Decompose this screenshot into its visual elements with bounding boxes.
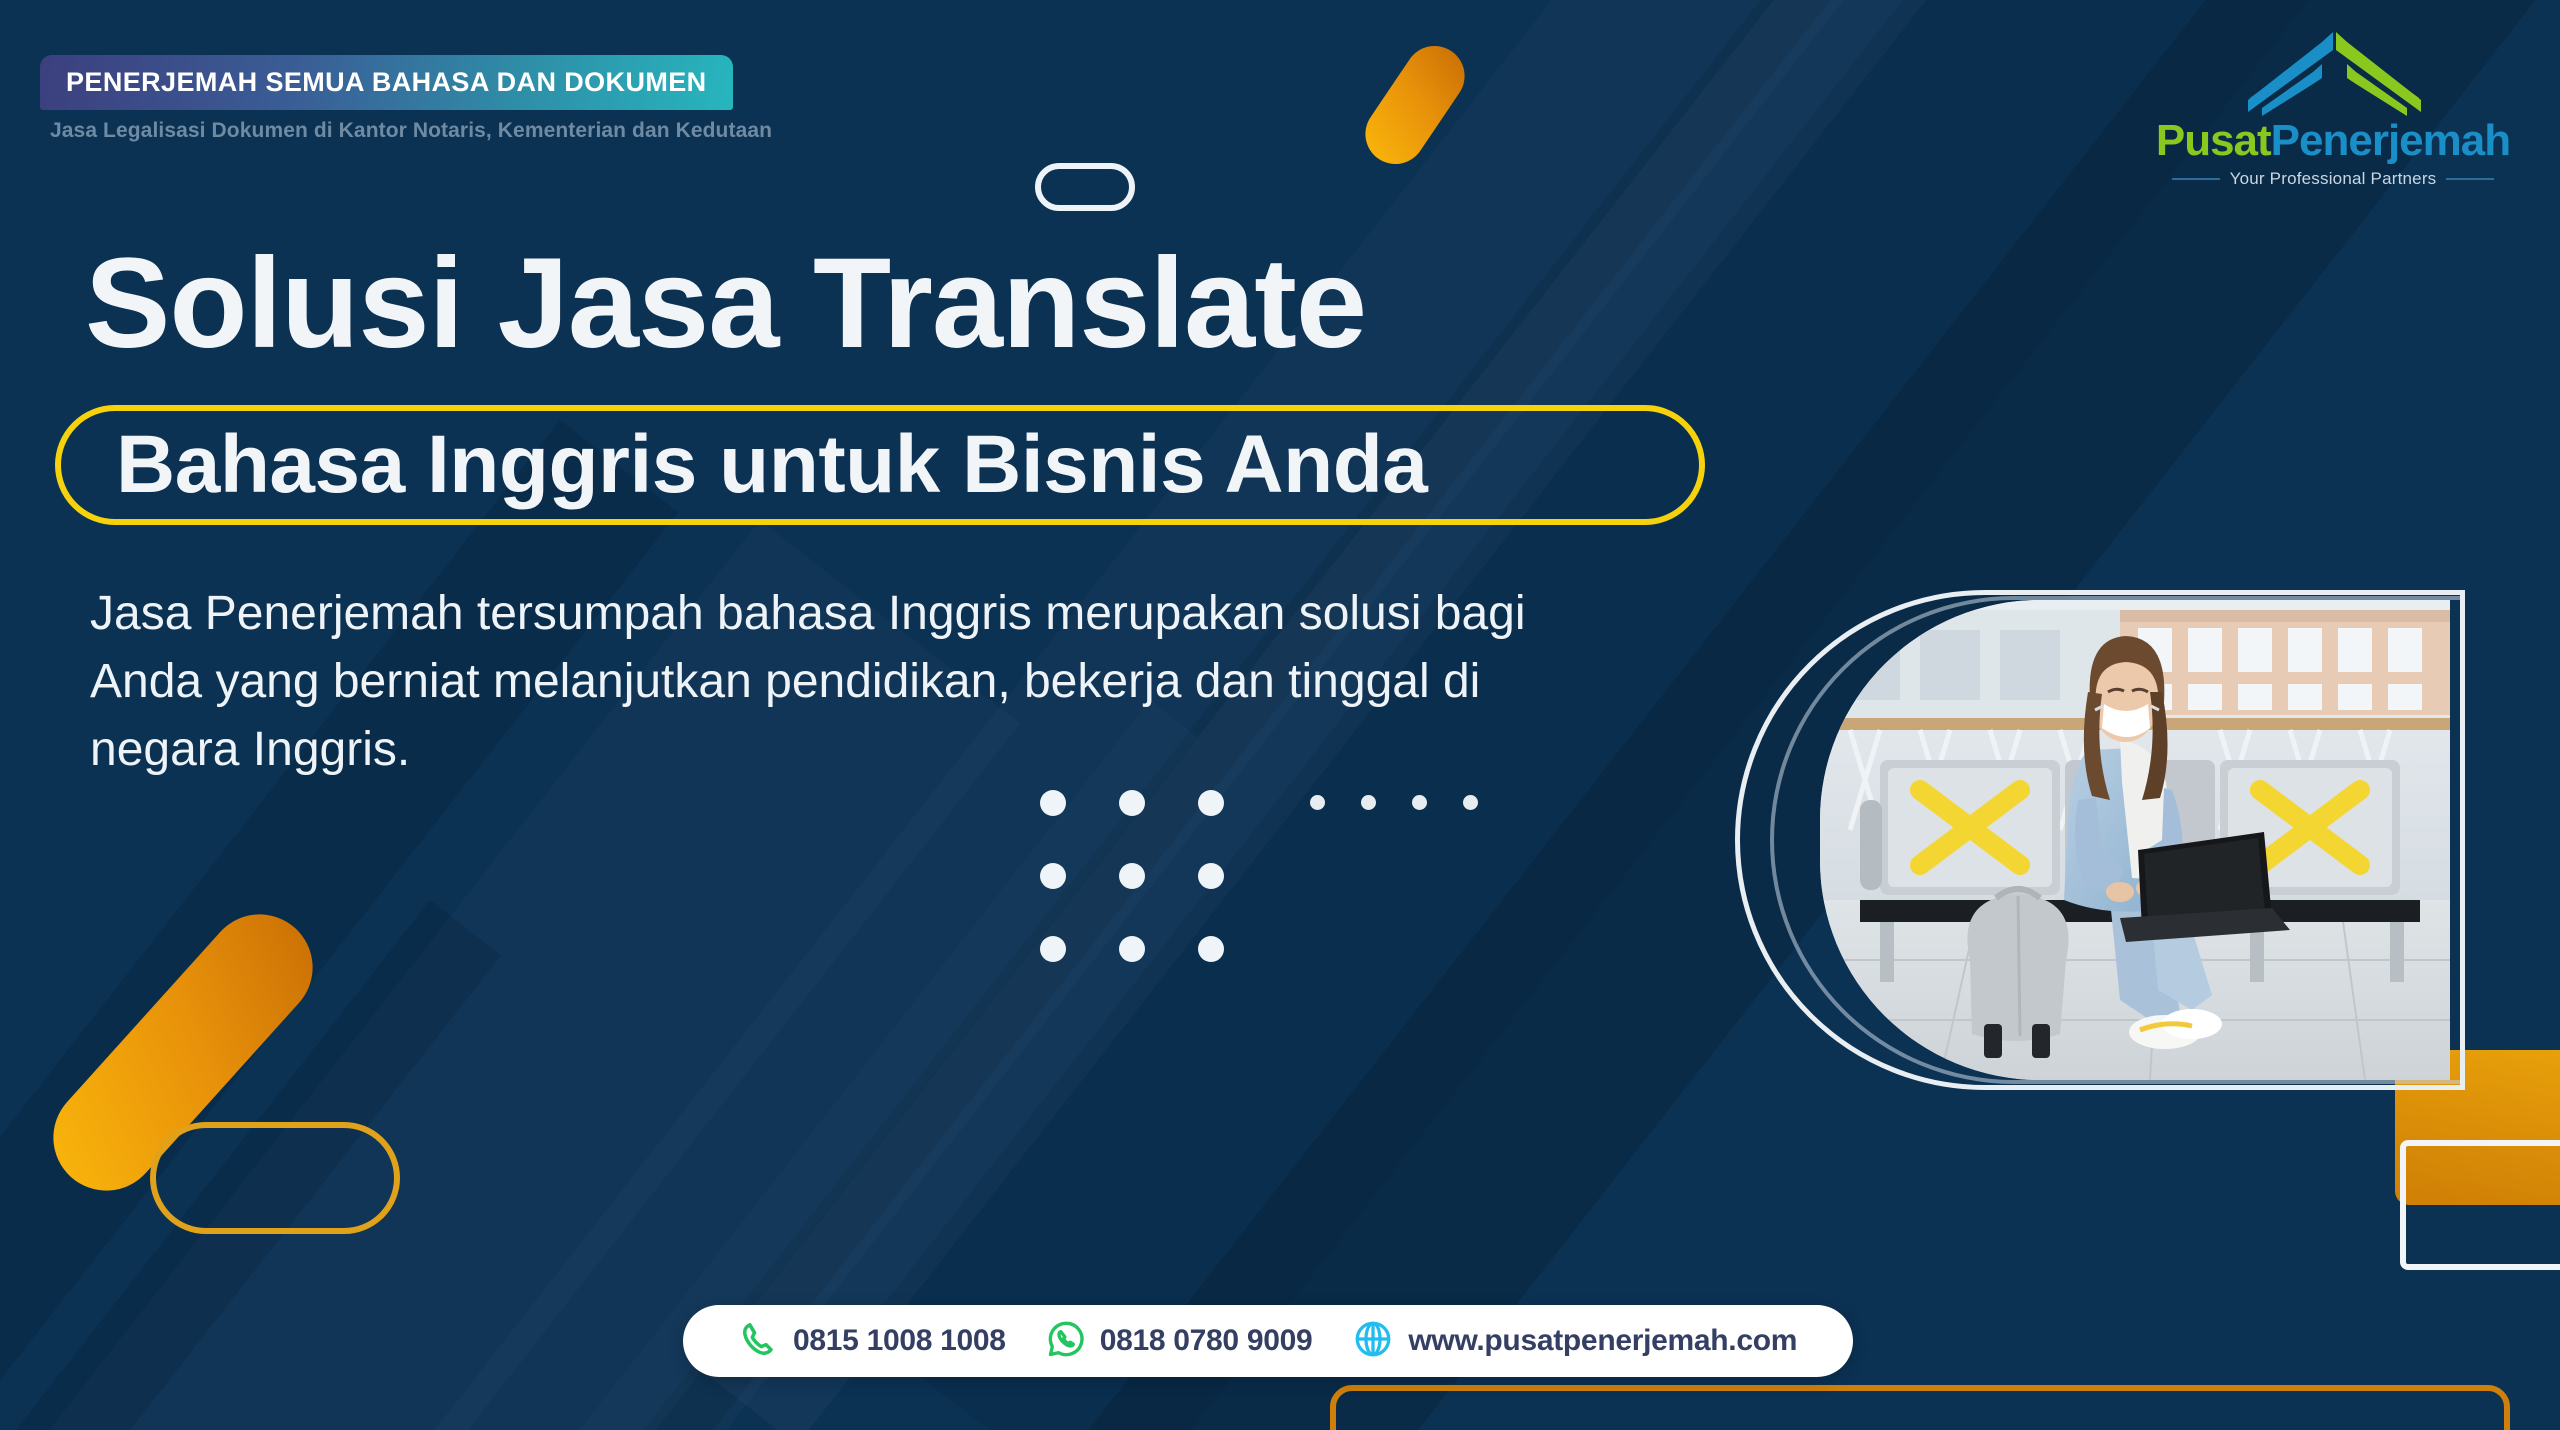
decor-dot-grid (1040, 790, 1224, 962)
phone-icon (739, 1319, 779, 1364)
decor-outlined-pill-orange (150, 1122, 400, 1234)
service-badge: PENERJEMAH SEMUA BAHASA DAN DOKUMEN Jasa… (40, 55, 772, 143)
contact-item-phone[interactable]: 0815 1008 1008 (719, 1319, 1026, 1364)
logo-tagline-text: Your Professional Partners (2230, 169, 2437, 189)
service-badge-title: PENERJEMAH SEMUA BAHASA DAN DOKUMEN (40, 55, 733, 110)
logo-tagline: Your Professional Partners (2148, 169, 2518, 189)
logo-wordmark: PusatPenerjemah (2148, 119, 2518, 163)
promotional-banner: PENERJEMAH SEMUA BAHASA DAN DOKUMEN Jasa… (0, 0, 2560, 1430)
whatsapp-icon (1046, 1319, 1086, 1364)
contact-item-website[interactable]: www.pusatpenerjemah.com (1332, 1318, 1817, 1365)
decor-outlined-pill-white (1035, 163, 1135, 211)
subtitle-pill-label: Bahasa Inggris untuk Bisnis Anda (116, 418, 1427, 512)
brand-logo[interactable]: PusatPenerjemah Your Professional Partne… (2148, 28, 2518, 189)
whatsapp-number-label: 0818 0780 9009 (1100, 1324, 1313, 1358)
hero-photo (1820, 600, 2450, 1080)
website-url-label: www.pusatpenerjemah.com (1408, 1324, 1797, 1358)
logo-word-pusat: Pusat (2156, 116, 2271, 165)
body-paragraph: Jasa Penerjemah tersumpah bahasa Inggris… (90, 580, 1540, 784)
logo-word-penerjemah: Penerjemah (2271, 116, 2510, 165)
phone-number-label: 0815 1008 1008 (793, 1324, 1006, 1358)
decor-outlined-rect-orange (1330, 1385, 2510, 1430)
page-title: Solusi Jasa Translate (85, 240, 1366, 368)
contact-item-whatsapp[interactable]: 0818 0780 9009 (1026, 1319, 1333, 1364)
decor-outlined-square-white (2400, 1140, 2560, 1270)
decor-dot-row (1310, 795, 1478, 810)
globe-icon (1352, 1318, 1394, 1365)
subtitle-pill: Bahasa Inggris untuk Bisnis Anda (55, 405, 1705, 525)
contact-bar: 0815 1008 1008 0818 0780 9009 www.pu (683, 1305, 1853, 1377)
service-badge-subtitle: Jasa Legalisasi Dokumen di Kantor Notari… (40, 119, 772, 143)
